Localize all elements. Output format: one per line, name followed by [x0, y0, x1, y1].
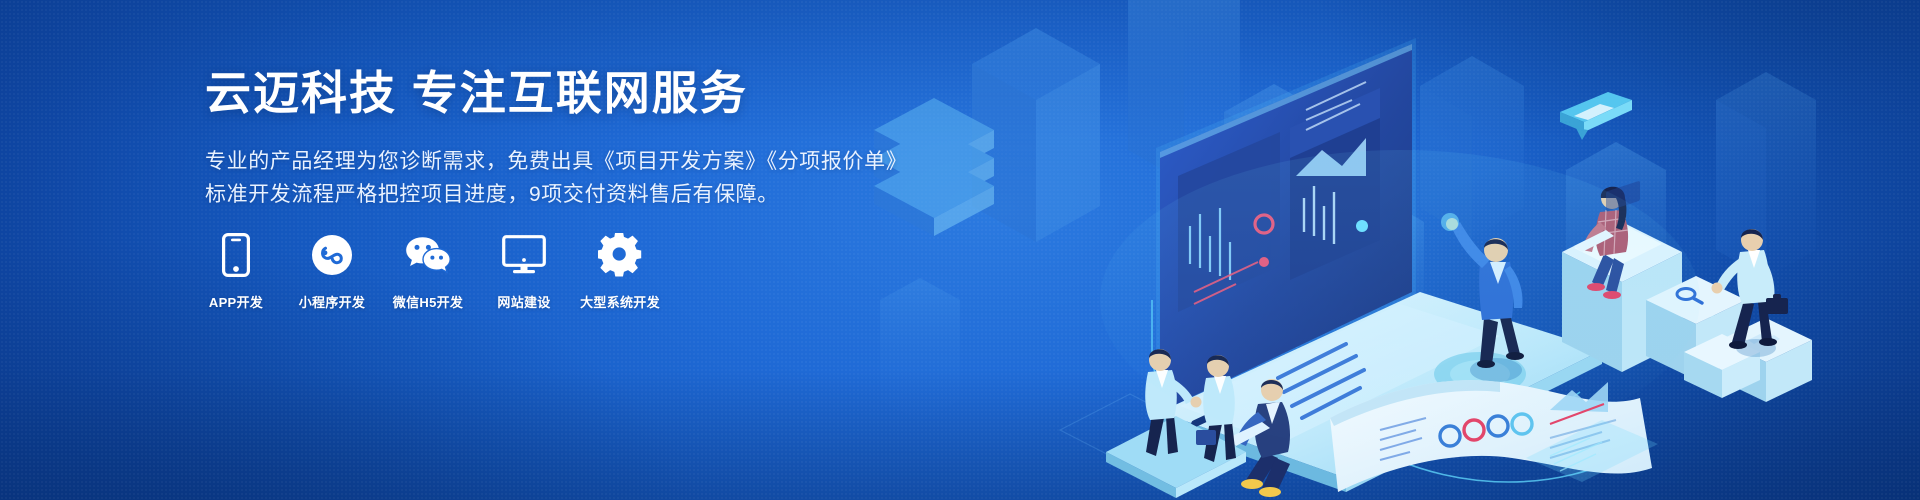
service-label-app: APP开发: [209, 292, 263, 311]
wechat-icon: [404, 232, 452, 278]
mobile-phone-icon: [222, 232, 250, 278]
service-item-wechat[interactable]: 微信H5开发: [392, 232, 464, 311]
service-label-mini-program: 小程序开发: [299, 292, 366, 311]
page-title: 云迈科技 专注互联网服务: [205, 66, 945, 121]
subtitle-line-1: 专业的产品经理为您诊断需求，免费出具《项目开发方案》《分项报价单》: [205, 145, 945, 178]
service-label-system: 大型系统开发: [580, 292, 660, 311]
isometric-tech-illustration: [860, 0, 1920, 500]
chat-bubble: [1560, 92, 1632, 140]
service-label-wechat: 微信H5开发: [393, 292, 463, 311]
mini-program-icon: [311, 232, 353, 278]
banner-subtitle: 专业的产品经理为您诊断需求，免费出具《项目开发方案》《分项报价单》 标准开发流程…: [205, 145, 945, 211]
gear-icon: [598, 232, 642, 278]
service-item-app[interactable]: APP开发: [200, 232, 272, 311]
subtitle-line-2: 标准开发流程严格把控项目进度，9项交付资料售后有保障。: [205, 178, 945, 211]
hero-banner: 云迈科技 专注互联网服务 专业的产品经理为您诊断需求，免费出具《项目开发方案》《…: [0, 0, 1920, 500]
monitor-icon: [502, 232, 546, 278]
service-item-mini-program[interactable]: 小程序开发: [296, 232, 368, 311]
banner-copy: 云迈科技 专注互联网服务 专业的产品经理为您诊断需求，免费出具《项目开发方案》《…: [205, 66, 945, 211]
service-label-website: 网站建设: [497, 292, 550, 311]
service-item-system[interactable]: 大型系统开发: [584, 232, 656, 311]
service-item-website[interactable]: 网站建设: [488, 232, 560, 311]
service-list: APP开发 小程序开发: [200, 232, 656, 311]
